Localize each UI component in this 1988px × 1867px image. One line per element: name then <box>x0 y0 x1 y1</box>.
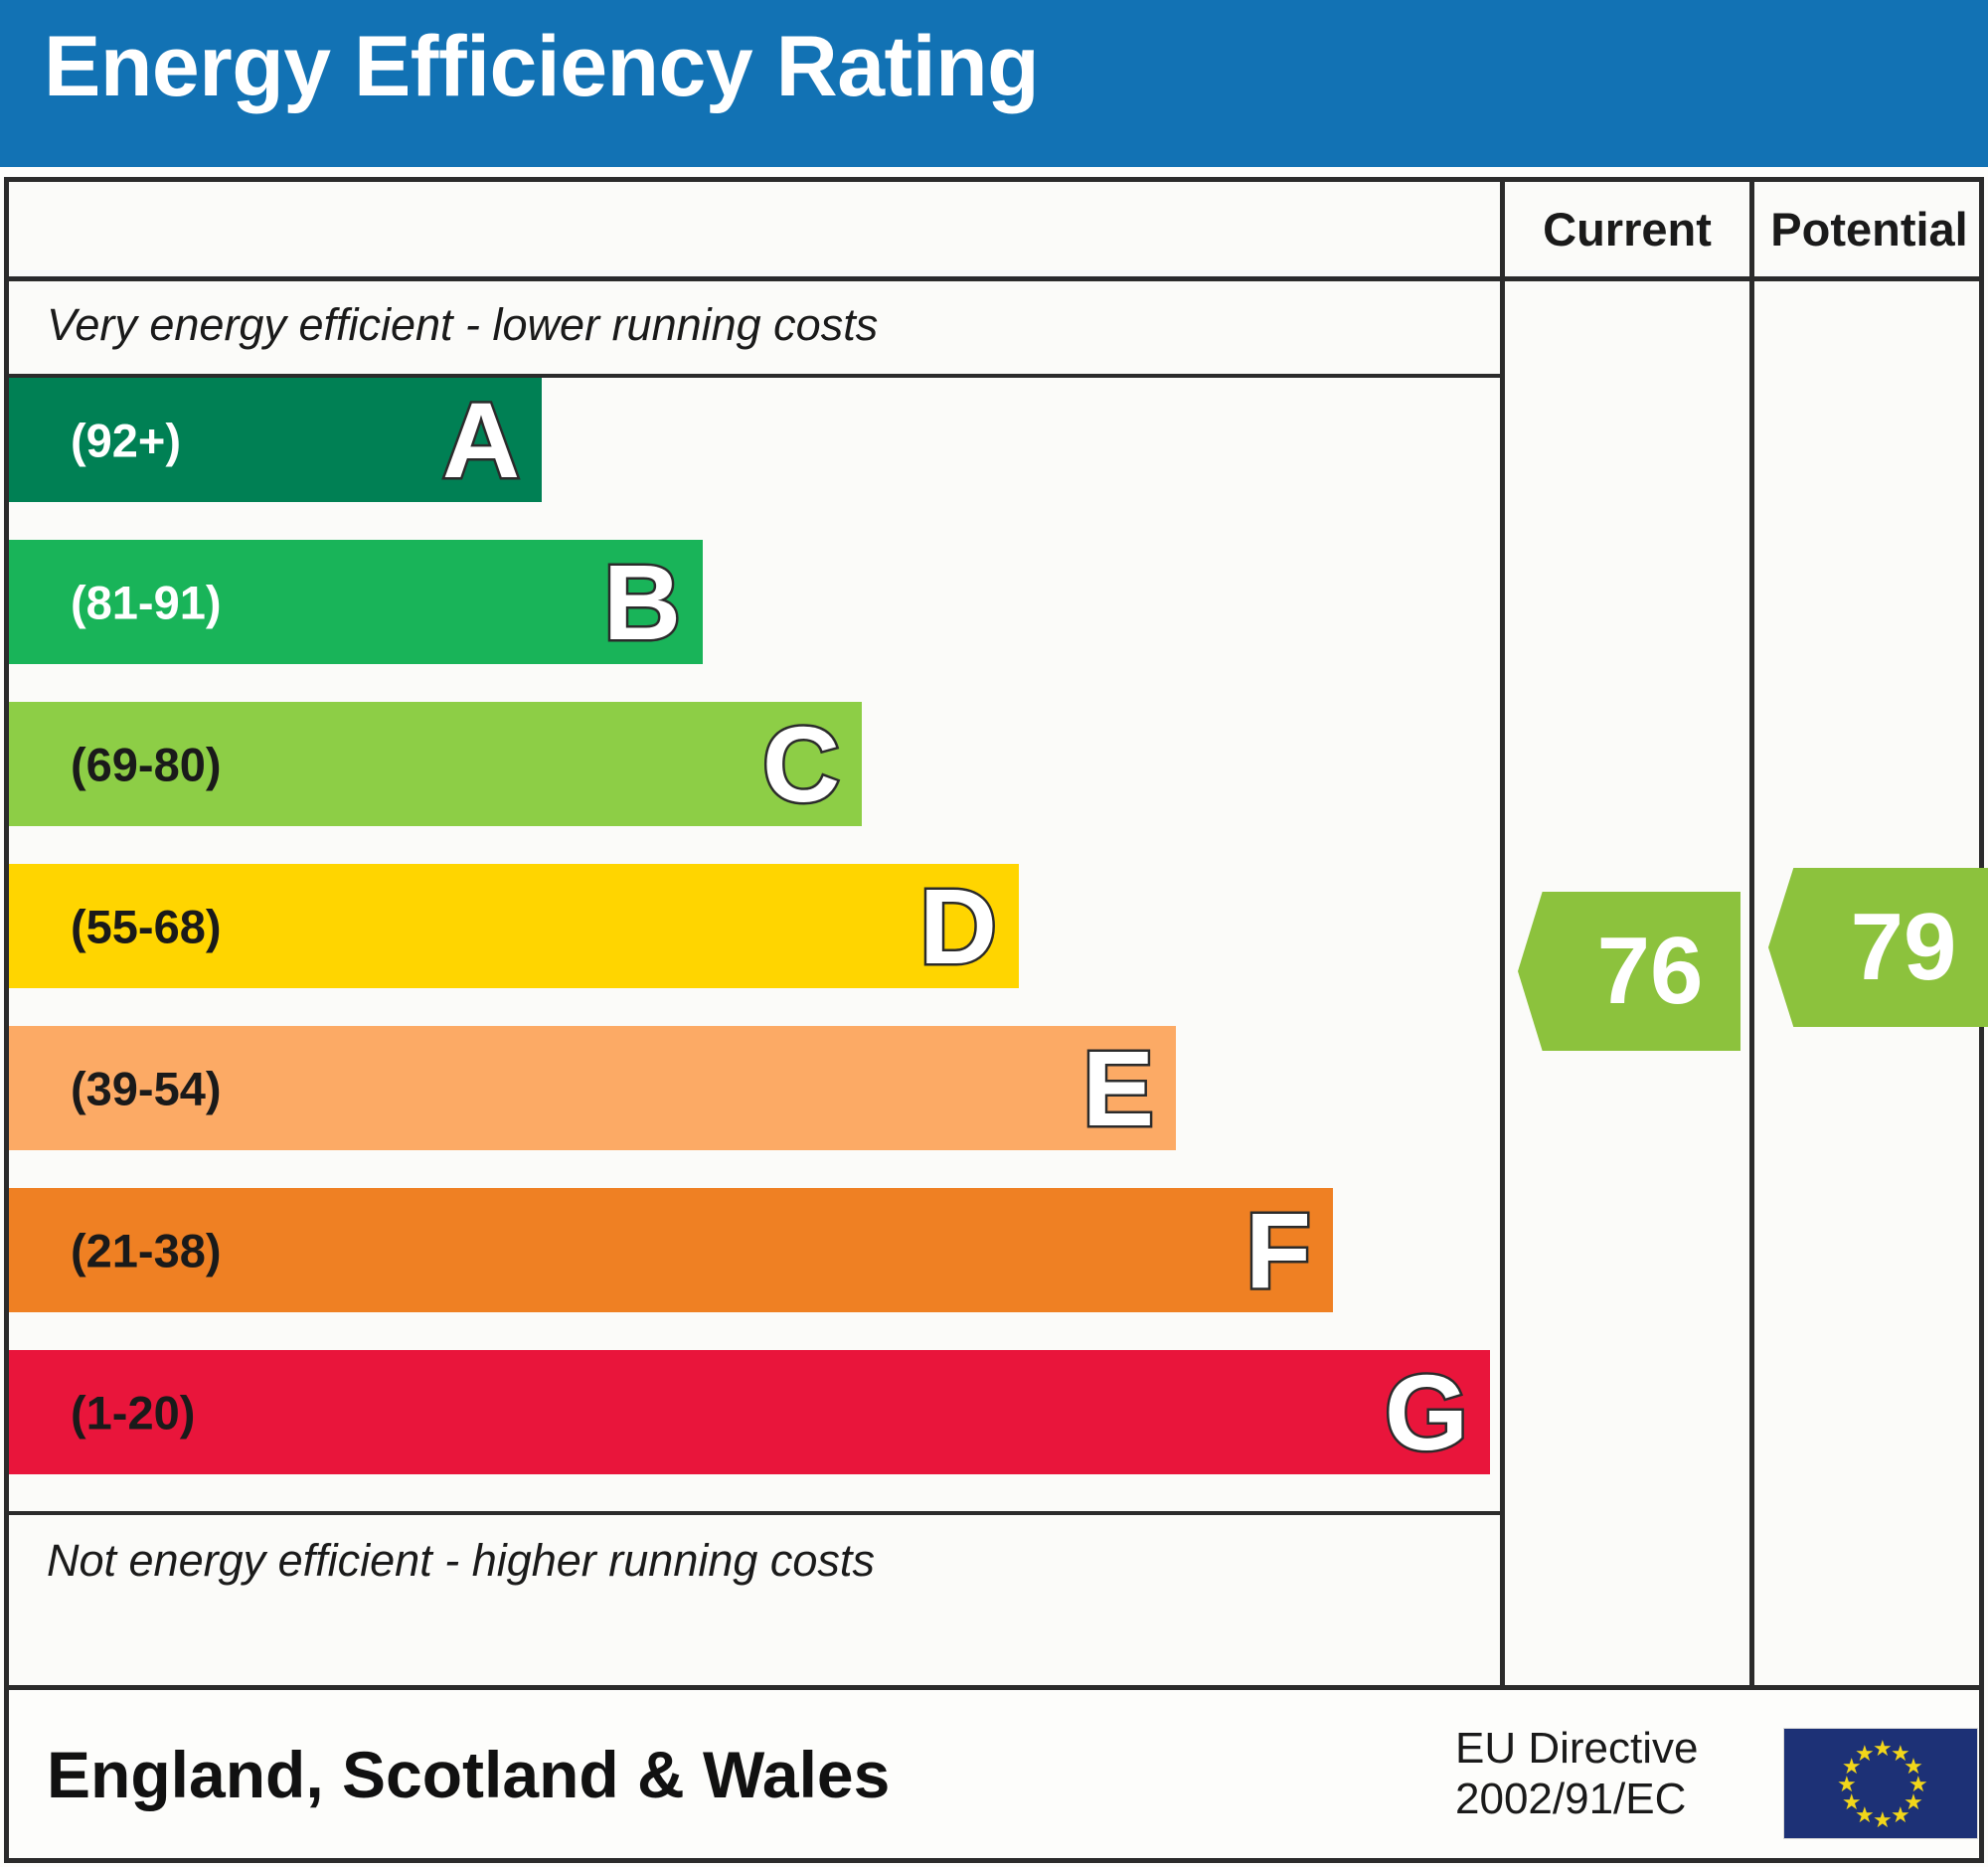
band-letter-c: C <box>762 711 840 818</box>
band-row-b: (81-91)B <box>9 540 703 664</box>
band-row-e: (39-54)E <box>9 1026 1176 1150</box>
band-row-a: (92+)A <box>9 378 542 502</box>
eu-flag-star: ★ <box>1873 1811 1891 1829</box>
energy-efficiency-certificate: Energy Efficiency Rating Current Potenti… <box>0 0 1988 1867</box>
caption-efficient: Very energy efficient - lower running co… <box>47 299 878 351</box>
eu-flag-star: ★ <box>1855 1745 1873 1763</box>
page-title: Energy Efficiency Rating <box>44 22 1039 111</box>
column-header-potential: Potential <box>1749 182 1984 276</box>
band-row-g: (1-20)G <box>9 1350 1490 1474</box>
table-header-row: Current Potential <box>9 182 1979 281</box>
band-letter-b: B <box>603 549 681 656</box>
column-header-current: Current <box>1500 182 1749 276</box>
potential-rating-marker: 79 <box>1768 868 1988 1027</box>
potential-rating-value: 79 <box>1809 900 1957 995</box>
eu-flag-icon: ★★★★★★★★★★★★ <box>1783 1728 1978 1839</box>
title-bar: Energy Efficiency Rating <box>0 0 1988 167</box>
band-row-d: (55-68)D <box>9 864 1019 988</box>
rating-table: Current Potential Very energy efficient … <box>4 177 1984 1690</box>
band-range-e: (39-54) <box>71 1061 222 1115</box>
eu-flag-star: ★ <box>1873 1740 1891 1758</box>
band-range-b: (81-91) <box>71 575 222 629</box>
band-letter-f: F <box>1245 1197 1311 1304</box>
current-rating-value: 76 <box>1556 924 1704 1019</box>
caption-inefficient: Not energy efficient - higher running co… <box>47 1535 875 1587</box>
region-label: England, Scotland & Wales <box>47 1737 890 1812</box>
eu-directive-line1: EU Directive <box>1455 1723 1699 1775</box>
band-row-c: (69-80)C <box>9 702 862 826</box>
band-range-a: (92+) <box>71 413 181 467</box>
eu-directive-line2: 2002/91/EC <box>1455 1775 1699 1826</box>
band-list: (92+)A(81-91)B(69-80)C(55-68)D(39-54)E(2… <box>9 378 1500 1511</box>
eu-flag-star: ★ <box>1891 1806 1908 1824</box>
band-range-f: (21-38) <box>71 1223 222 1277</box>
column-divider-current <box>1500 281 1505 1685</box>
current-rating-marker: 76 <box>1518 892 1740 1051</box>
eu-directive-label: EU Directive 2002/91/EC <box>1455 1723 1699 1826</box>
band-letter-d: D <box>919 873 997 980</box>
band-row-f: (21-38)F <box>9 1188 1333 1312</box>
band-letter-e: E <box>1082 1035 1154 1142</box>
band-range-g: (1-20) <box>71 1385 195 1440</box>
caption-divider-bottom <box>9 1511 1500 1515</box>
band-range-d: (55-68) <box>71 899 222 953</box>
column-divider-potential <box>1749 281 1754 1685</box>
band-letter-a: A <box>442 387 520 494</box>
footer-bar: England, Scotland & Wales EU Directive 2… <box>4 1690 1984 1863</box>
band-letter-g: G <box>1385 1359 1468 1466</box>
band-range-c: (69-80) <box>71 737 222 791</box>
